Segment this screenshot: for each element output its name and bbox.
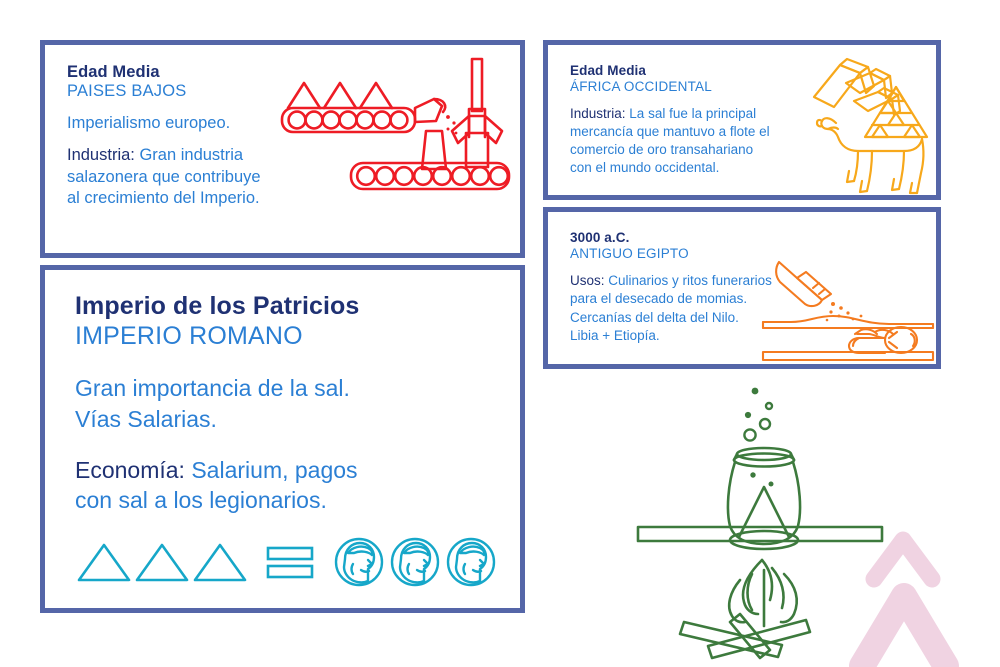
salt-pile-icon bbox=[75, 539, 133, 585]
panel-rome-text: Imperio de los Patricios IMPERIO ROMANO … bbox=[75, 292, 506, 536]
equals-icon bbox=[265, 539, 315, 585]
body-line: Imperialismo europeo. bbox=[67, 113, 367, 134]
panel-netherlands: Edad Media PAISES BAJOS Imperialismo eur… bbox=[40, 40, 525, 258]
roman-coin-icon bbox=[443, 536, 499, 588]
paragraph-label: Industria: bbox=[67, 146, 135, 164]
panel-africa: Edad Media ÁFRICA OCCIDENTAL Industria: … bbox=[543, 40, 941, 200]
body-line: Gran importancia de la sal. bbox=[75, 373, 506, 404]
body-line: para el desecado de momias. bbox=[570, 290, 820, 308]
panel-era: 3000 a.C. bbox=[570, 230, 820, 246]
body-text: Gran industria bbox=[139, 146, 243, 164]
panel-place: IMPERIO ROMANO bbox=[75, 322, 506, 352]
panel-place: ÁFRICA OCCIDENTAL bbox=[570, 79, 825, 95]
salt-pile-icon bbox=[191, 539, 249, 585]
panel-era: Edad Media bbox=[570, 63, 825, 79]
body-line: comercio de oro transahariano bbox=[570, 141, 825, 159]
body-text: La sal fue la principal bbox=[629, 106, 756, 121]
body-line: mercancía que mantuvo a flote el bbox=[570, 123, 825, 141]
paragraph: Industria: La sal fue la principal merca… bbox=[570, 105, 825, 177]
body-text: Culinarios y ritos funerarios bbox=[608, 273, 772, 288]
paragraph: Industria: Gran industria salazonera que… bbox=[67, 145, 367, 209]
body-line: Industria: Gran industria bbox=[67, 145, 367, 166]
paragraph-label: Economía: bbox=[75, 457, 185, 483]
body-text: Salarium, pagos bbox=[191, 457, 357, 483]
panel-era: Edad Media bbox=[67, 63, 367, 82]
panel-rome: Imperio de los Patricios IMPERIO ROMANO … bbox=[40, 265, 525, 613]
paragraph-label: Industria: bbox=[570, 106, 626, 121]
panel-egypt: 3000 a.C. ANTIGUO EGIPTO Usos: Culinario… bbox=[543, 207, 941, 369]
body-line: salazonera que contribuye bbox=[67, 167, 367, 188]
body-line: Economía: Salarium, pagos bbox=[75, 455, 506, 486]
body-line: Vías Salarias. bbox=[75, 404, 506, 435]
panel-era: Imperio de los Patricios bbox=[75, 292, 506, 322]
pink-chevron-watermark bbox=[856, 528, 1000, 667]
paragraph-label: Usos: bbox=[570, 273, 605, 288]
roman-coin-icon bbox=[387, 536, 443, 588]
body-line: al crecimiento del Imperio. bbox=[67, 188, 367, 209]
body-line: con sal a los legionarios. bbox=[75, 485, 506, 516]
paragraph: Usos: Culinarios y ritos funerarios para… bbox=[570, 272, 820, 345]
body-line: Cercanías del delta del Nilo. bbox=[570, 309, 820, 327]
panel-africa-text: Edad Media ÁFRICA OCCIDENTAL Industria: … bbox=[570, 63, 825, 188]
salt-pile-icon bbox=[133, 539, 191, 585]
paragraph: Imperialismo europeo. bbox=[67, 113, 367, 134]
salt-equals-coins-icon-strip bbox=[75, 536, 499, 588]
paragraph: Gran importancia de la sal. Vías Salaria… bbox=[75, 373, 506, 435]
panel-netherlands-text: Edad Media PAISES BAJOS Imperialismo eur… bbox=[67, 63, 367, 221]
infographic-canvas: Edad Media PAISES BAJOS Imperialismo eur… bbox=[0, 0, 1000, 667]
panel-place: ANTIGUO EGIPTO bbox=[570, 246, 820, 262]
body-line: Industria: La sal fue la principal bbox=[570, 105, 825, 123]
body-line: Libia + Etiopía. bbox=[570, 327, 820, 345]
roman-coin-icon bbox=[331, 536, 387, 588]
paragraph: Economía: Salarium, pagos con sal a los … bbox=[75, 455, 506, 517]
body-line: con el mundo occidental. bbox=[570, 159, 825, 177]
body-line: Usos: Culinarios y ritos funerarios bbox=[570, 272, 820, 290]
panel-place: PAISES BAJOS bbox=[67, 82, 367, 101]
panel-egypt-text: 3000 a.C. ANTIGUO EGIPTO Usos: Culinario… bbox=[570, 230, 820, 356]
